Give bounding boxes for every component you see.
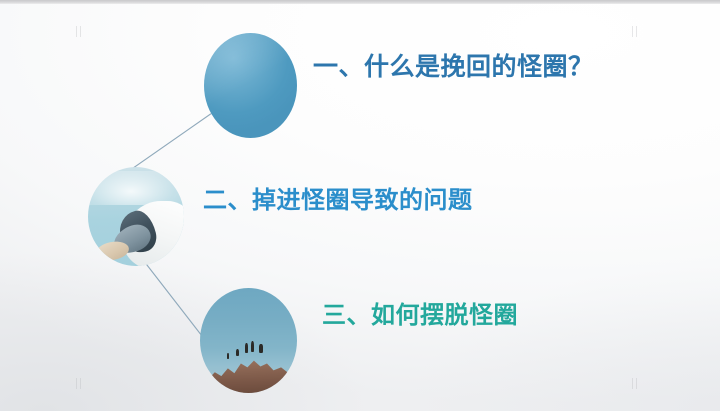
cloud-band — [88, 171, 184, 205]
agenda-circle-2[interactable] — [88, 167, 184, 266]
corner-mark-top-left — [76, 26, 85, 37]
bird-tail — [94, 240, 129, 263]
climber-figure — [251, 341, 254, 352]
corner-mark-bottom-left — [76, 378, 85, 389]
sky-haze-overlay — [204, 33, 297, 138]
climber-figure — [227, 353, 229, 359]
climber-figure — [245, 343, 248, 353]
agenda-circle-1[interactable] — [204, 33, 297, 138]
presentation-slide: 一、什么是挽回的怪圈？ 二、掉进怪圈导致的问题 三、如何摆脱怪圈 — [0, 0, 720, 411]
agenda-heading-3: 三、如何摆脱怪圈 — [322, 304, 518, 328]
agenda-heading-2: 二、掉进怪圈导致的问题 — [203, 189, 473, 213]
corner-mark-top-right — [632, 26, 641, 37]
agenda-heading-1: 一、什么是挽回的怪圈？ — [313, 55, 594, 80]
corner-mark-bottom-right — [632, 378, 641, 389]
agenda-circle-3[interactable] — [200, 288, 297, 393]
top-edge-bar — [0, 0, 720, 4]
climber-figure — [259, 344, 263, 353]
mountain-ridge-shadow — [200, 351, 297, 393]
climber-figure — [236, 349, 239, 356]
